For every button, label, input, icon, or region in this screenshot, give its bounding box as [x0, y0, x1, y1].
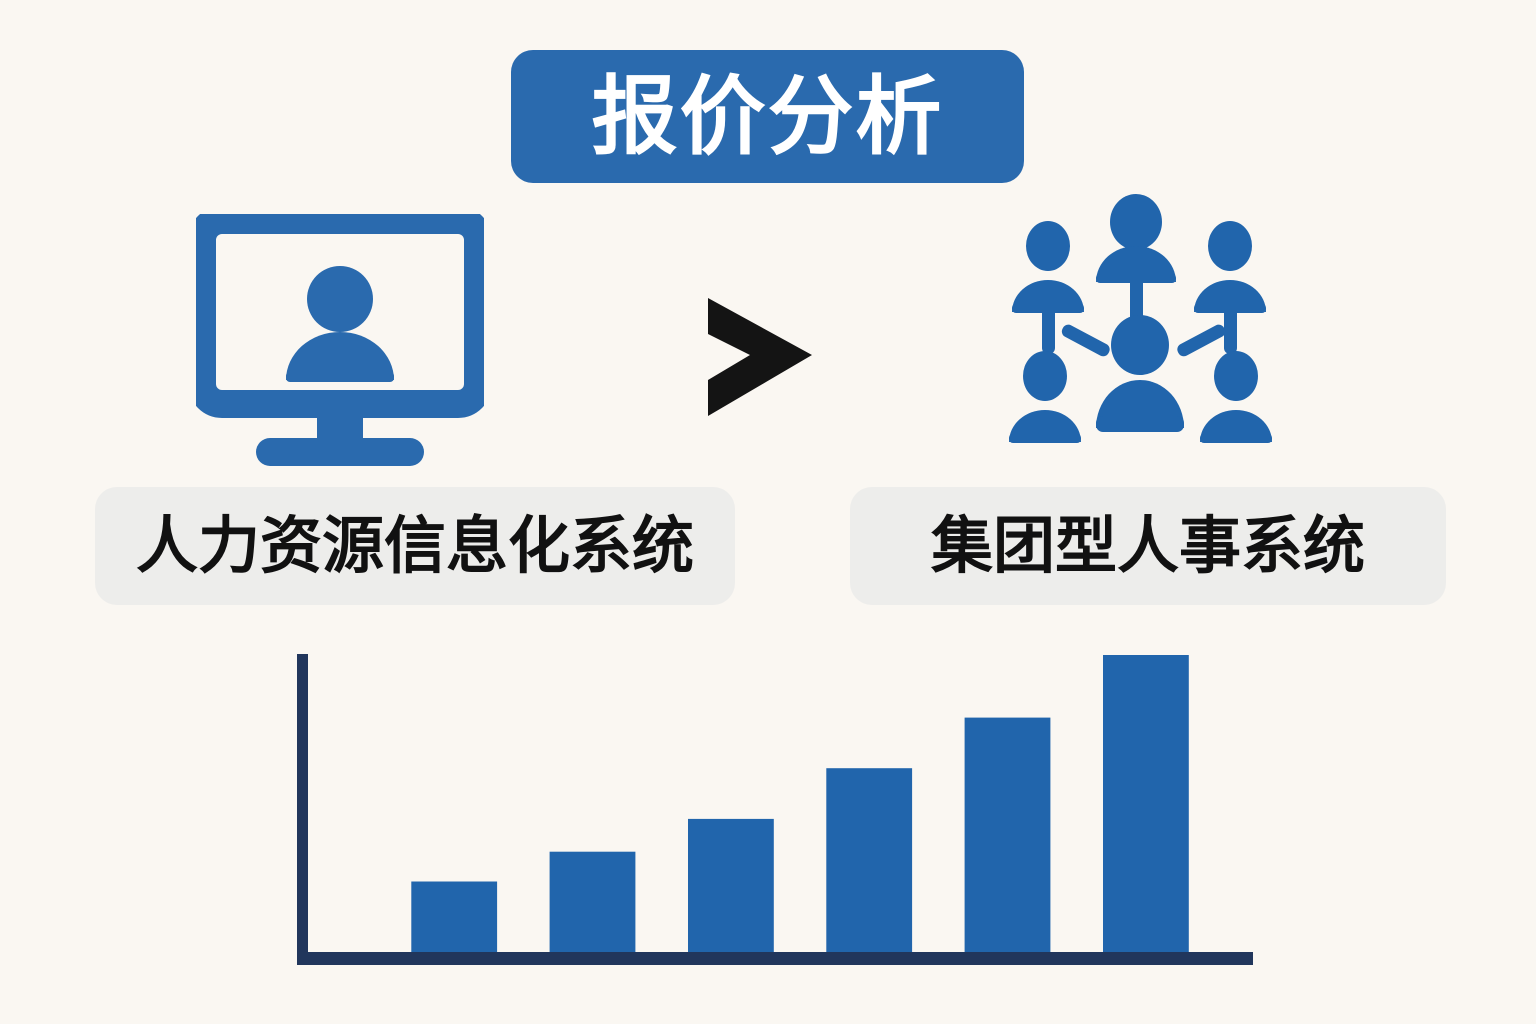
label-pill-right: 集团型人事系统	[850, 487, 1446, 605]
chart-bar	[965, 718, 1051, 953]
people-network-group-icon	[990, 188, 1282, 471]
chart-bar	[411, 882, 497, 954]
label-pill-left: 人力资源信息化系统	[95, 487, 735, 605]
chart-x-axis	[297, 952, 1253, 965]
chart-bar	[550, 852, 636, 953]
chart-bar	[688, 819, 774, 953]
chart-bar	[1103, 655, 1189, 953]
chart-bars	[411, 655, 1189, 953]
title-banner: 报价分析	[511, 50, 1024, 183]
label-right-text: 集团型人事系统	[931, 515, 1365, 577]
chart-y-axis	[297, 654, 308, 960]
label-left-text: 人力资源信息化系统	[136, 515, 694, 577]
bar-chart	[285, 640, 1265, 980]
greater-than-chevron-icon	[690, 292, 830, 422]
poster-canvas: 报价分析	[0, 0, 1536, 1024]
monitor-user-icon	[196, 214, 484, 472]
page-title: 报价分析	[592, 74, 944, 160]
chart-bar	[826, 768, 912, 953]
